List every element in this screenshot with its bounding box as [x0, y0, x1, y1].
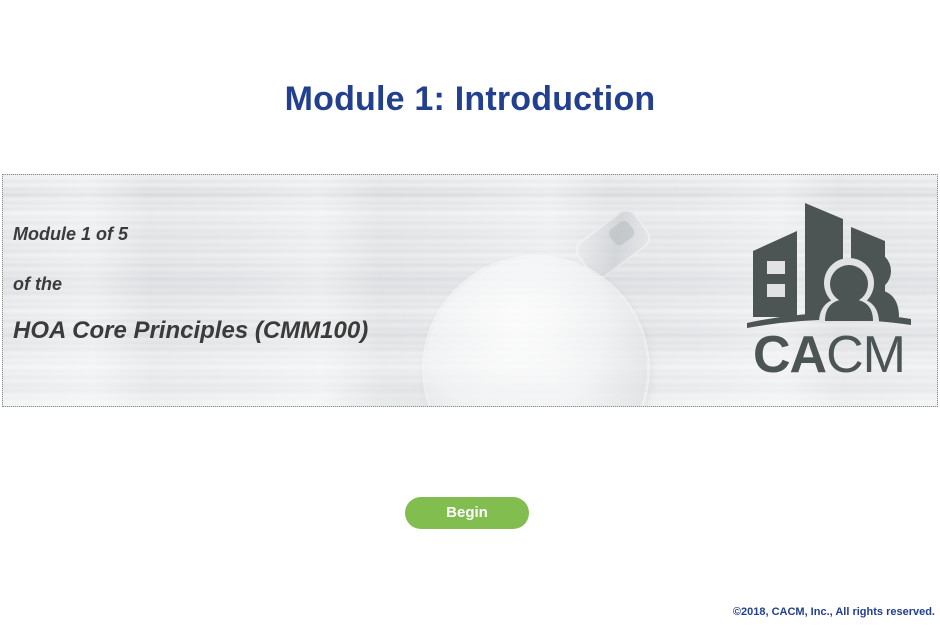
cacm-wordmark-light: CM [826, 326, 905, 384]
copyright-notice: ©2018, CACM, Inc., All rights reserved. [733, 606, 935, 618]
cacm-wordmark: CACM [739, 328, 919, 382]
begin-button[interactable]: Begin [405, 497, 529, 529]
cacm-wordmark-bold: CA [753, 326, 826, 384]
cacm-buildings-people-icon [739, 197, 919, 329]
page-title: Module 1: Introduction [0, 78, 940, 120]
hero-text-block: Module 1 of 5 of the HOA Core Principles… [13, 223, 368, 345]
hero-line-of-the: of the [13, 273, 368, 295]
hero-line-course-title: HOA Core Principles (CMM100) [13, 317, 368, 345]
cacm-logo: CACM [739, 197, 919, 382]
hero-banner-panel: Module 1 of 5 of the HOA Core Principles… [2, 174, 938, 407]
hero-line-module-count: Module 1 of 5 [13, 223, 368, 245]
